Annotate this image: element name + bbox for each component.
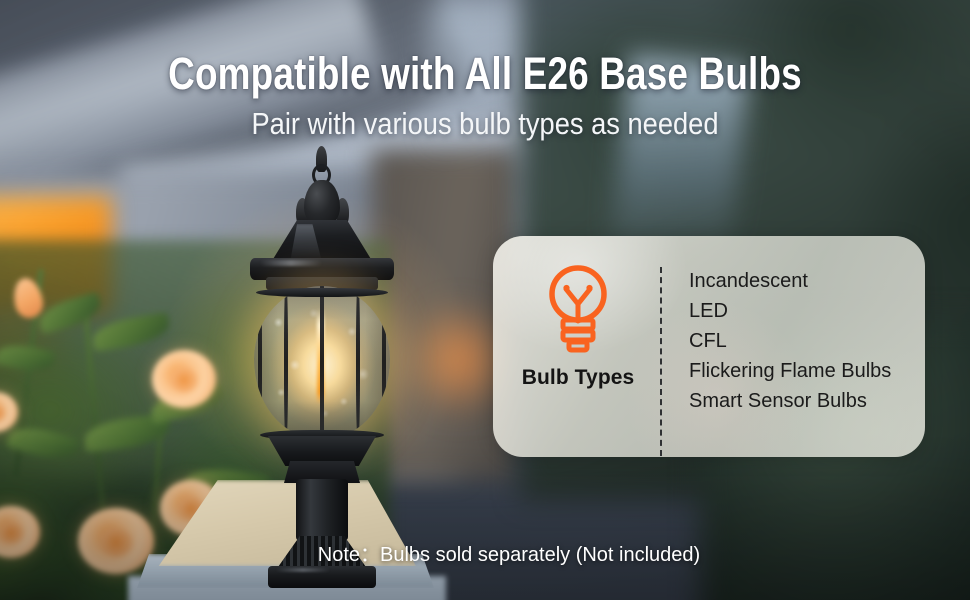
- globe-top-ring: [256, 288, 388, 297]
- lantern-brim-highlight: [260, 260, 322, 266]
- mounting-plate-highlight: [276, 568, 330, 572]
- bulb-types-card: Bulb Types Incandescent LED CFL Flickeri…: [493, 236, 925, 457]
- light-bulb-icon: [538, 258, 618, 358]
- finial-body: [304, 180, 340, 226]
- list-item: LED: [689, 296, 913, 326]
- page-title: Compatible with All E26 Base Bulbs: [87, 48, 882, 100]
- marketing-banner: Compatible with All E26 Base Bulbs Pair …: [0, 0, 970, 600]
- globe-shading: [254, 286, 390, 438]
- lantern-stem: [296, 479, 348, 541]
- disclaimer-note: Note：Bulbs sold separately (Not included…: [0, 538, 970, 567]
- outdoor-post-lantern: [232, 146, 412, 566]
- list-item: Smart Sensor Bulbs: [689, 386, 913, 416]
- page-subtitle: Pair with various bulb types as needed: [58, 106, 912, 142]
- list-item: Incandescent: [689, 266, 913, 296]
- lantern-glass-globe: [254, 286, 390, 438]
- list-item: CFL: [689, 326, 913, 356]
- list-item: Flickering Flame Bulbs: [689, 356, 913, 386]
- card-icon-column: Bulb Types: [503, 258, 653, 390]
- bulb-types-list: Incandescent LED CFL Flickering Flame Bu…: [689, 266, 913, 416]
- bulb-types-label: Bulb Types: [522, 366, 635, 390]
- card-dashed-divider: [660, 267, 662, 456]
- disclaimer-note-text: Note：Bulbs sold separately (Not included…: [270, 538, 700, 567]
